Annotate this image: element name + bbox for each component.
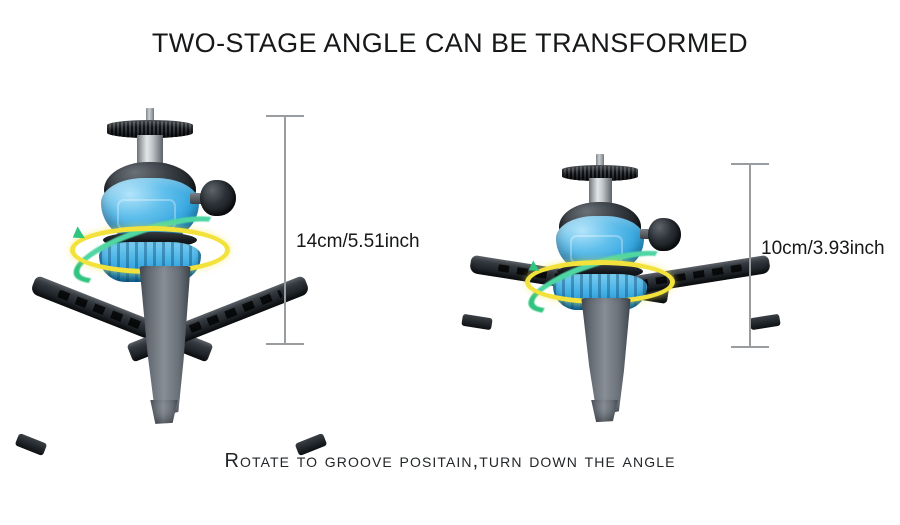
tripod-leg-front-lower	[146, 400, 182, 426]
tripod-leg-front	[578, 298, 634, 416]
tripod-extended-legs	[0, 100, 300, 410]
dimension-cap-bottom	[266, 343, 304, 345]
locking-knob[interactable]	[200, 180, 236, 216]
tripod-foot-left	[461, 314, 493, 331]
page-title: TWO-STAGE ANGLE CAN BE TRANSFORMED	[0, 28, 900, 59]
rotation-ring-yellow	[525, 260, 675, 304]
product-feature-image: TWO-STAGE ANGLE CAN BE TRANSFORMED	[0, 0, 900, 525]
locking-knob[interactable]	[648, 218, 681, 251]
dimension-label-right: 10cm/3.93inch	[761, 238, 885, 260]
tripod-leg-front-lower	[587, 400, 622, 424]
dimension-label-left: 14cm/5.51inch	[296, 231, 420, 253]
dimension-stem	[749, 163, 751, 348]
dimension-stem	[284, 115, 286, 345]
page-caption: Rotate to groove positain,turn down the …	[0, 450, 900, 473]
tripod-splayed-legs	[450, 150, 750, 410]
dimension-cap-bottom	[731, 346, 769, 348]
dimension-line-left	[265, 115, 305, 345]
